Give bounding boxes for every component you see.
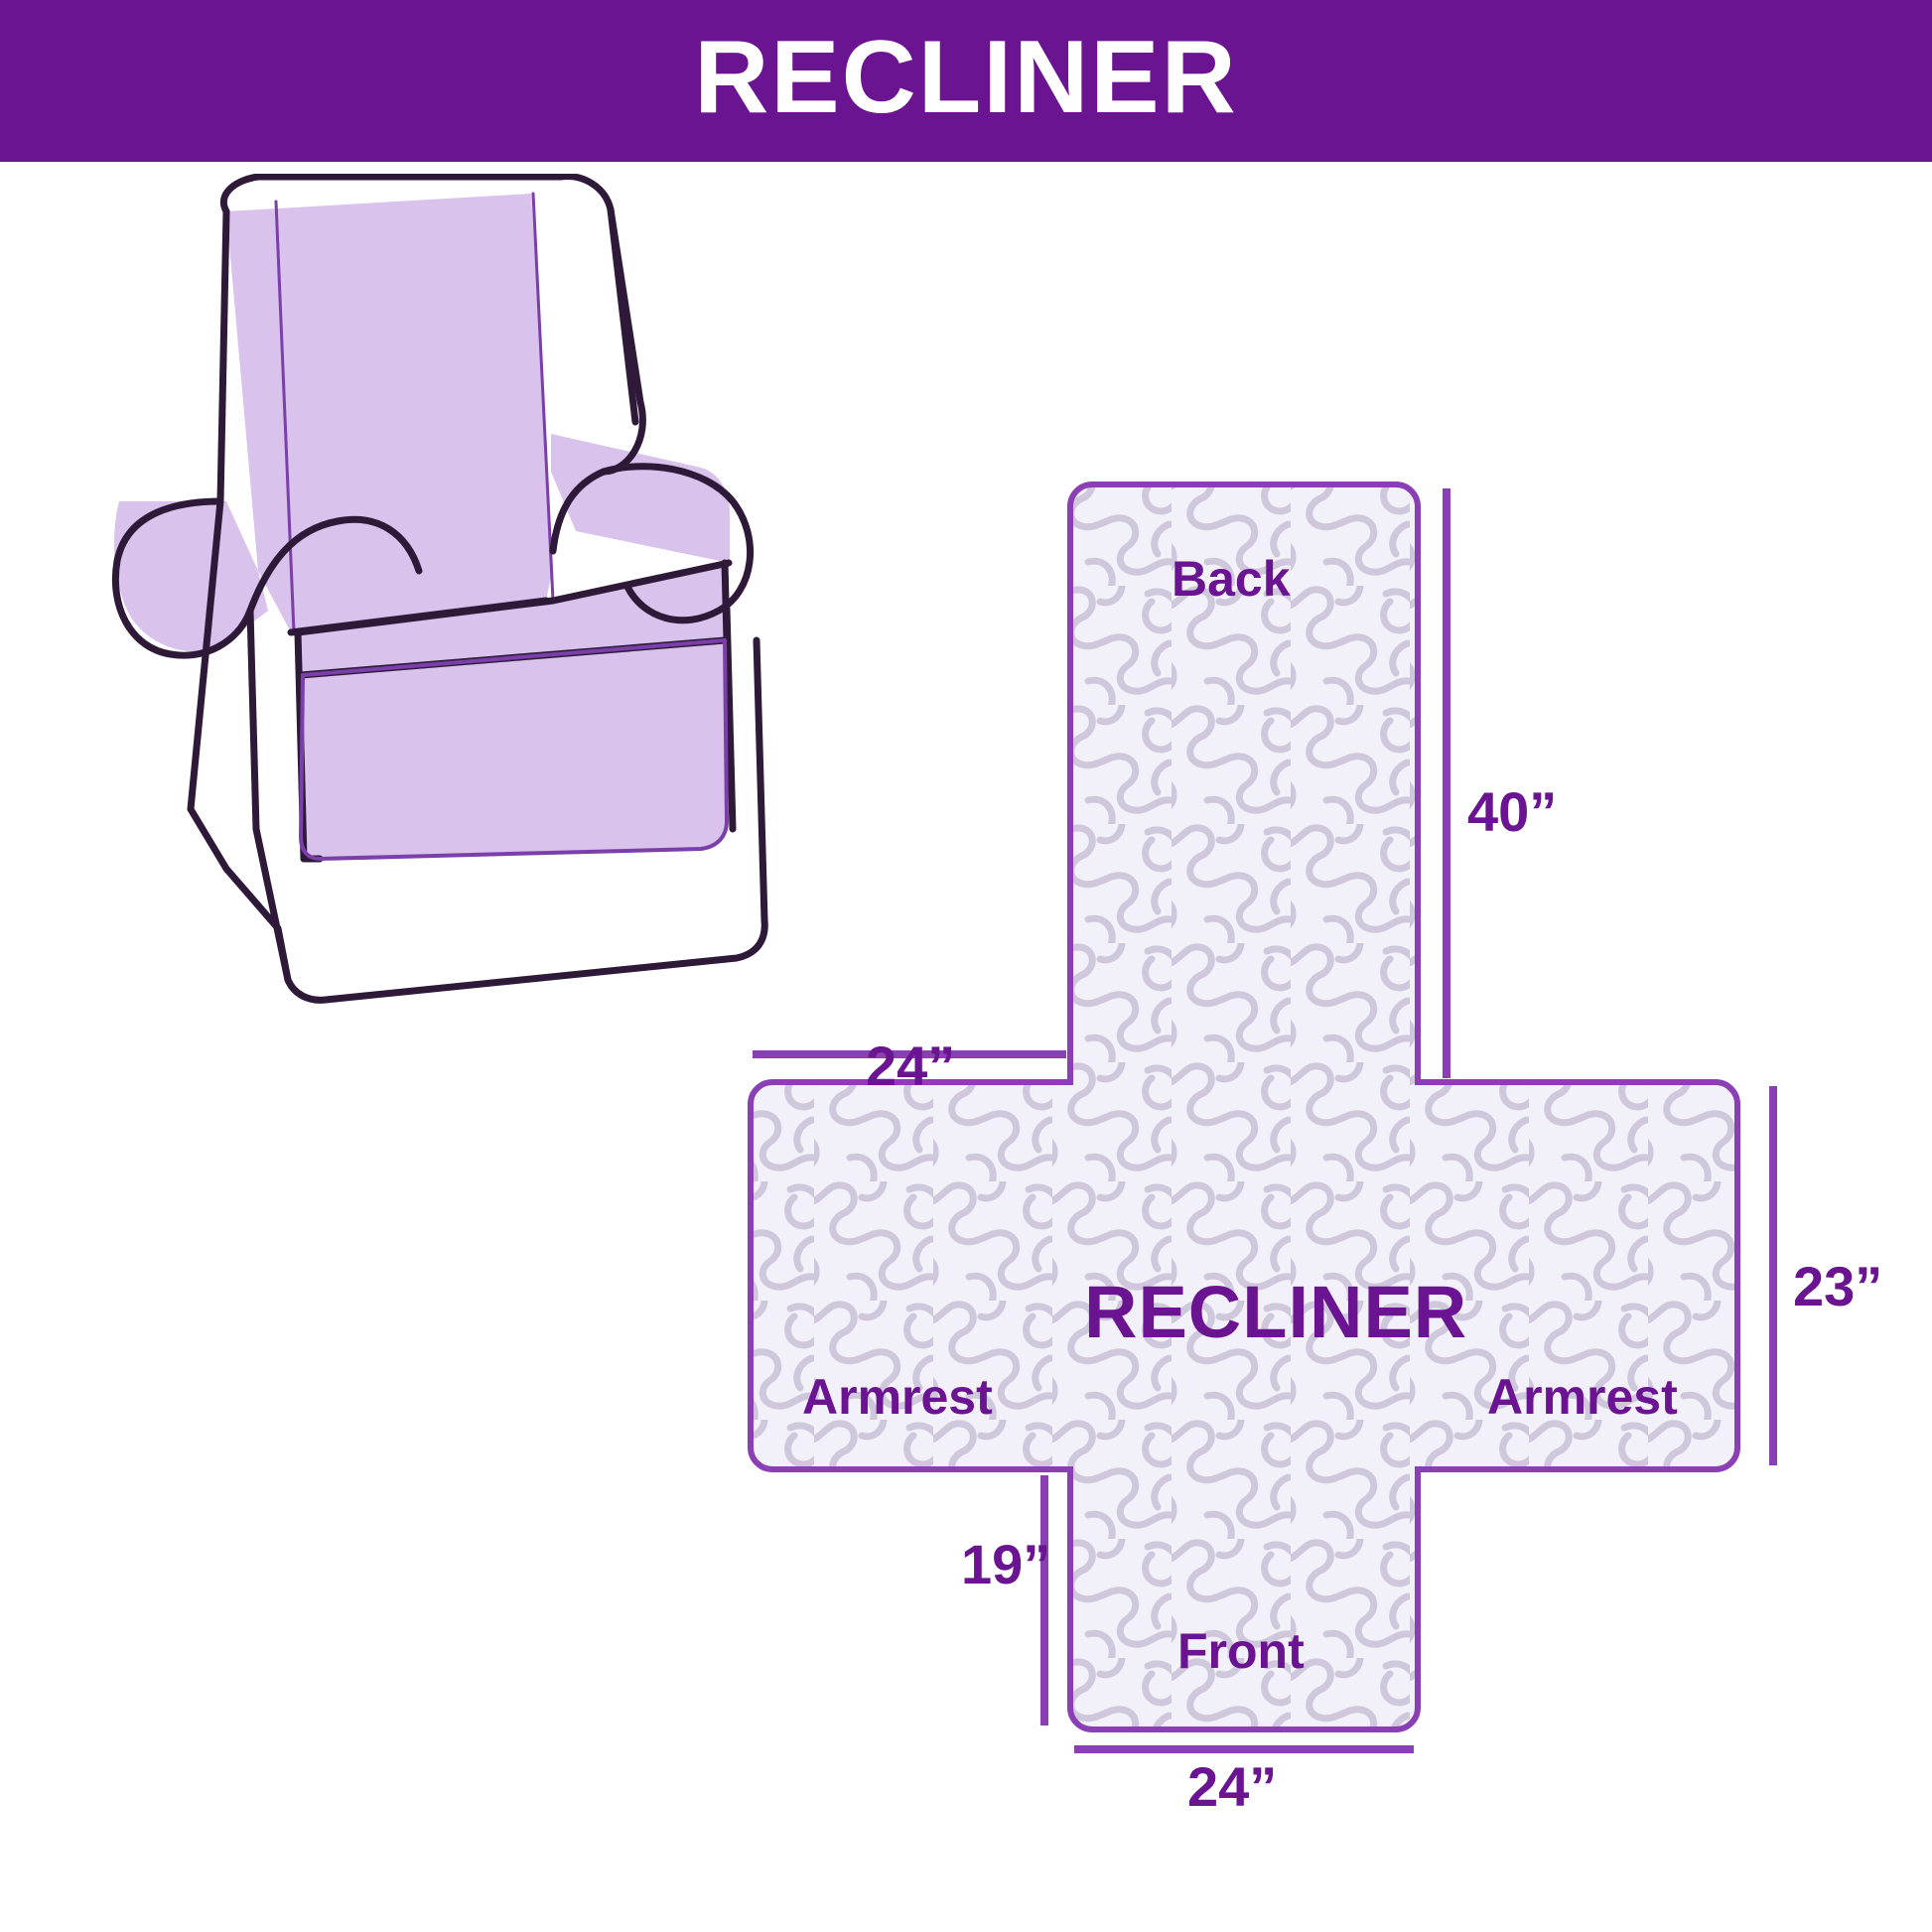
chair-back-right-edge: [611, 209, 635, 422]
slipcover-pattern-diagram: [695, 467, 1932, 1817]
slipcover-cross-fabric: [751, 484, 1737, 1729]
chair-back-left-edge: [220, 211, 226, 501]
chair-base-front: [288, 920, 764, 1000]
product-dimension-infographic: RECLINER: [0, 0, 1932, 1932]
chair-cover-fill: [114, 194, 730, 859]
header-banner: RECLINER: [0, 0, 1932, 162]
page-title: RECLINER: [694, 26, 1238, 129]
chair-left-arm-front-edge: [250, 611, 256, 829]
cross-pattern-svg: [695, 467, 1932, 1817]
